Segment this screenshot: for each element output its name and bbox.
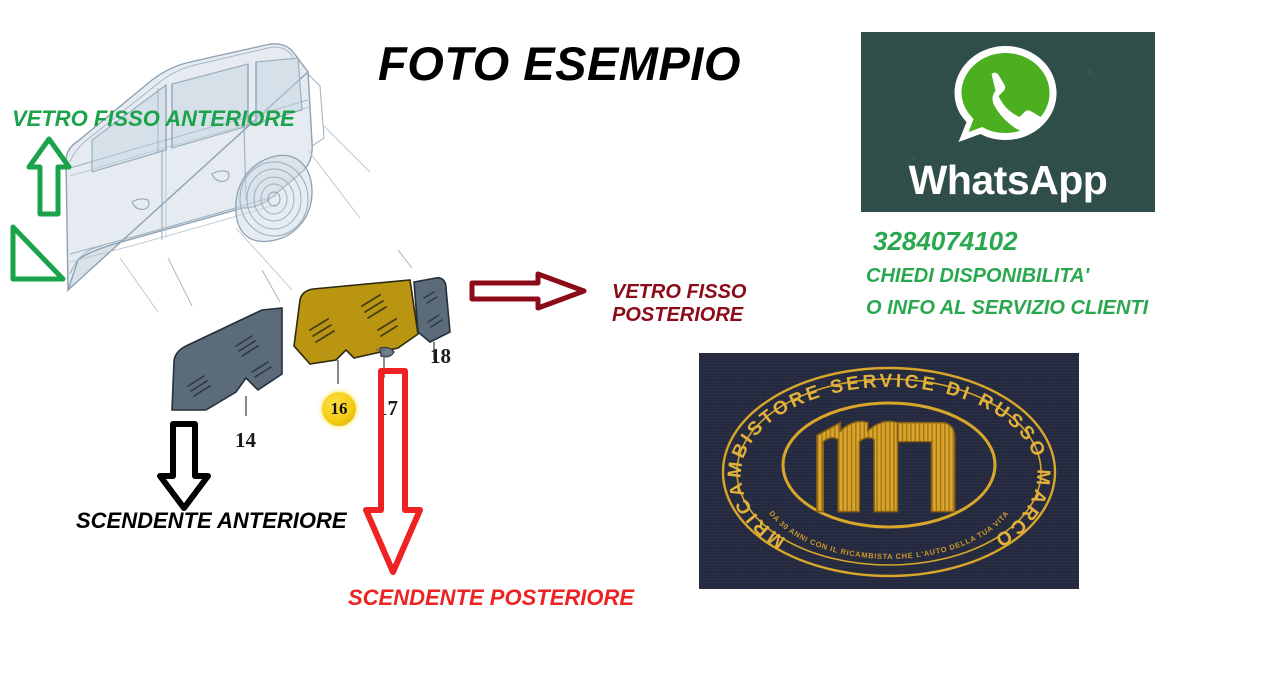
label-vetro-fisso-posteriore-line2: POSTERIORE	[612, 304, 746, 327]
label-scendente-anteriore: SCENDENTE ANTERIORE	[76, 508, 347, 533]
page-title: FOTO ESEMPIO	[378, 36, 741, 91]
arrow-down-long-icon	[362, 368, 424, 581]
contact-phone-number[interactable]: 3284074102	[873, 226, 1018, 257]
whatsapp-banner: WhatsApp	[861, 32, 1155, 212]
arrow-right-icon	[468, 270, 588, 317]
part-callout-16: 16	[322, 392, 356, 426]
contact-availability-text: CHIEDI DISPONIBILITA'	[866, 265, 1089, 288]
arrow-triangle-icon	[8, 222, 68, 289]
shop-logo-banner: MRICAMBISTORE SERVICE DI RUSSO MARCO DA …	[699, 353, 1079, 589]
label-scendente-posteriore: SCENDENTE POSTERIORE	[348, 585, 634, 610]
contact-customer-service-text: O INFO AL SERVIZIO CLIENTI	[866, 297, 1148, 320]
whatsapp-wordmark: WhatsApp	[861, 157, 1155, 204]
screenshot-root: 14 17 18 16 FOTO ESEMPIO VETRO FISSO ANT…	[0, 0, 1264, 678]
arrow-up-icon	[26, 136, 72, 223]
label-vetro-fisso-posteriore: VETRO FISSO POSTERIORE	[612, 281, 746, 327]
shop-logo-icon: MRICAMBISTORE SERVICE DI RUSSO MARCO DA …	[699, 353, 1079, 589]
arrow-down-icon	[155, 420, 213, 517]
label-vetro-fisso-posteriore-line1: VETRO FISSO	[612, 281, 746, 304]
label-vetro-fisso-anteriore: VETRO FISSO ANTERIORE	[12, 106, 295, 131]
svg-text:DA 30 ANNI CON IL RICAMBISTA C: DA 30 ANNI CON IL RICAMBISTA CHE L'AUTO …	[767, 509, 1010, 561]
whatsapp-phone-bubble-icon	[945, 38, 1067, 165]
part-number-18: 18	[430, 344, 451, 369]
part-number-14: 14	[235, 428, 256, 453]
